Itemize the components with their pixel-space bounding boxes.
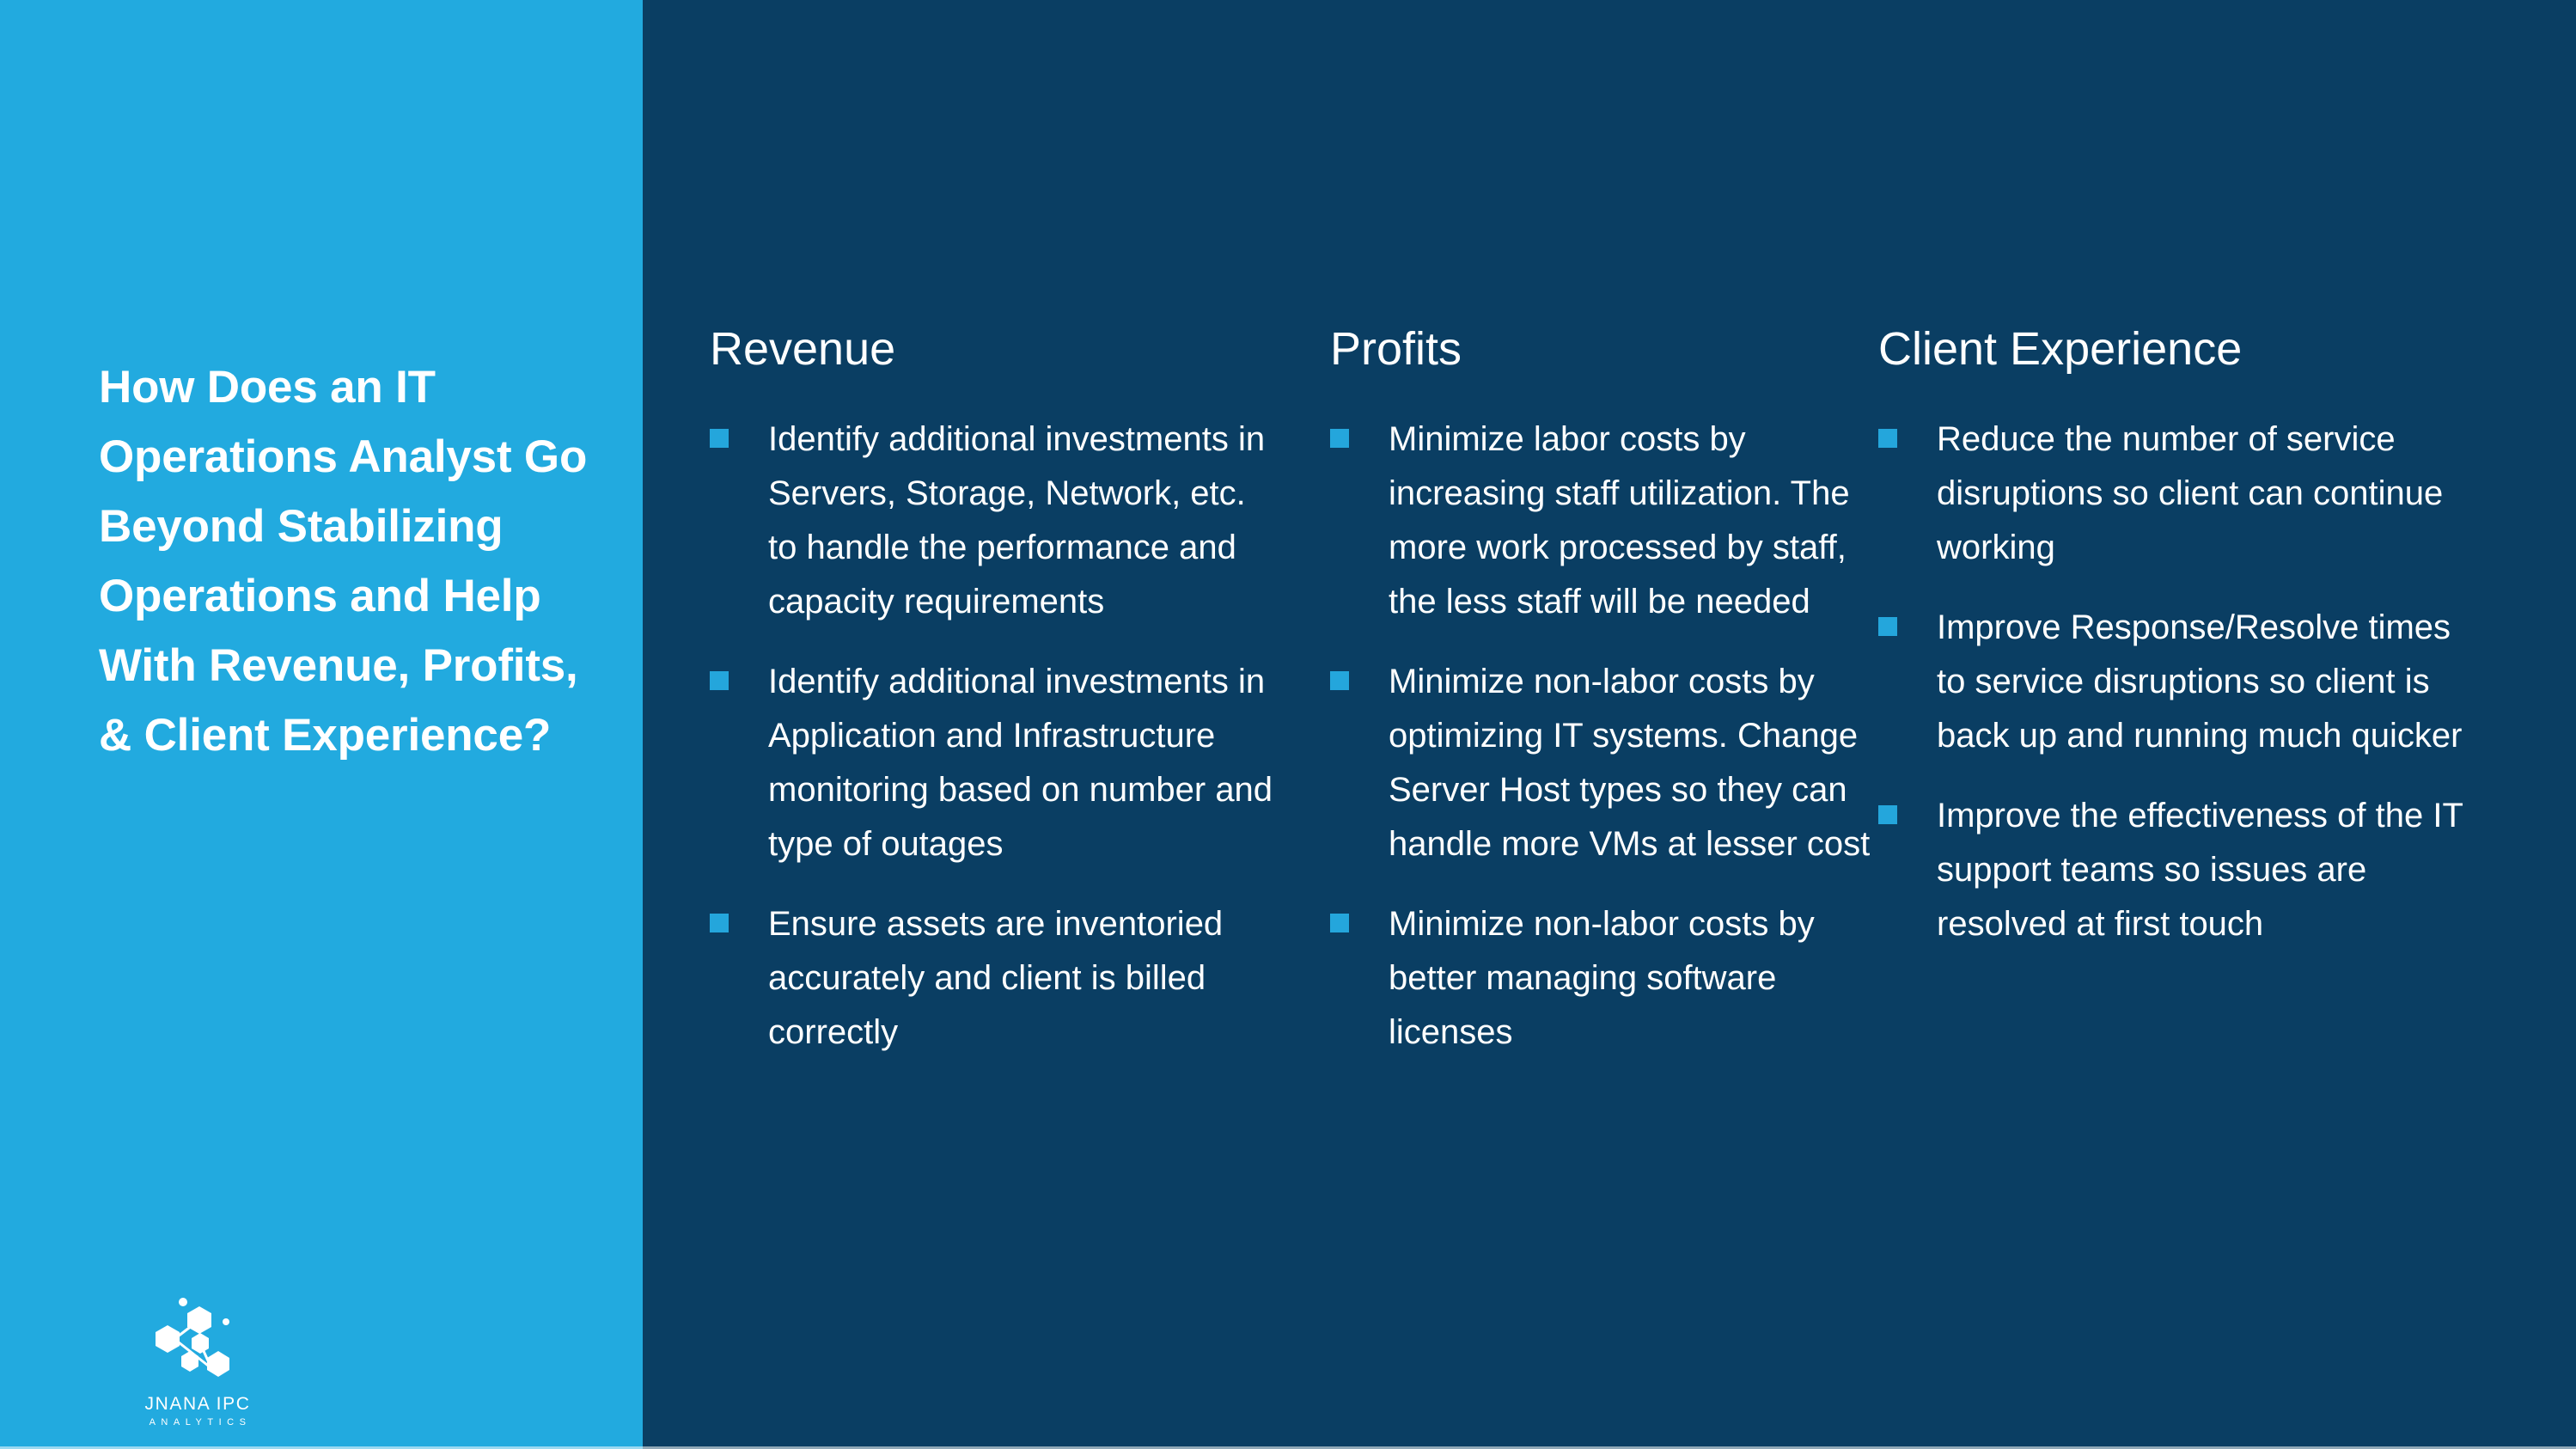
square-bullet-icon	[1330, 671, 1349, 690]
list-item: Identify additional investments in Serve…	[710, 413, 1277, 629]
list-item: Minimize labor costs by increasing staff…	[1330, 413, 1880, 629]
list-item-text: Identify additional investments in Serve…	[768, 413, 1277, 629]
list-item: Reduce the number of service disruptions…	[1878, 413, 2480, 575]
square-bullet-icon	[710, 914, 729, 932]
list-item: Improve Response/Resolve times to servic…	[1878, 601, 2480, 763]
list-item-text: Improve Response/Resolve times to servic…	[1937, 601, 2480, 763]
list-item-text: Ensure assets are inventoried accurately…	[768, 897, 1277, 1060]
list-item-text: Minimize non-labor costs by optimizing I…	[1389, 655, 1880, 871]
square-bullet-icon	[710, 429, 729, 448]
square-bullet-icon	[1330, 914, 1349, 932]
hexagon-network-icon	[146, 1294, 249, 1389]
title-panel: How Does an IT Operations Analyst Go Bey…	[0, 0, 643, 1449]
slide: How Does an IT Operations Analyst Go Bey…	[0, 0, 2576, 1449]
square-bullet-icon	[1878, 805, 1897, 824]
column-revenue: Revenue Identify additional investments …	[710, 323, 1277, 1085]
square-bullet-icon	[1878, 617, 1897, 636]
bullet-list: Identify additional investments in Serve…	[710, 413, 1277, 1060]
column-client-experience: Client Experience Reduce the number of s…	[1878, 323, 2480, 977]
list-item: Identify additional investments in Appli…	[710, 655, 1277, 871]
column-profits: Profits Minimize labor costs by increasi…	[1330, 323, 1880, 1085]
column-heading: Profits	[1330, 323, 1880, 375]
square-bullet-icon	[1330, 429, 1349, 448]
list-item-text: Improve the effectiveness of the IT supp…	[1937, 789, 2480, 951]
column-heading: Client Experience	[1878, 323, 2480, 375]
logo-tagline: ANALYTICS	[112, 1415, 284, 1430]
list-item-text: Minimize non-labor costs by better manag…	[1389, 897, 1880, 1060]
list-item: Ensure assets are inventoried accurately…	[710, 897, 1277, 1060]
square-bullet-icon	[1878, 429, 1897, 448]
bullet-list: Minimize labor costs by increasing staff…	[1330, 413, 1880, 1060]
page-title: How Does an IT Operations Analyst Go Bey…	[99, 352, 614, 770]
logo-wordmark: JNANA IPC	[112, 1394, 284, 1415]
square-bullet-icon	[710, 671, 729, 690]
list-item-text: Reduce the number of service disruptions…	[1937, 413, 2480, 575]
list-item-text: Identify additional investments in Appli…	[768, 655, 1277, 871]
list-item: Minimize non-labor costs by optimizing I…	[1330, 655, 1880, 871]
list-item: Improve the effectiveness of the IT supp…	[1878, 789, 2480, 951]
brand-logo: JNANA IPC ANALYTICS	[112, 1294, 284, 1430]
list-item-text: Minimize labor costs by increasing staff…	[1389, 413, 1880, 629]
list-item: Minimize non-labor costs by better manag…	[1330, 897, 1880, 1060]
column-heading: Revenue	[710, 323, 1277, 375]
content-columns: Revenue Identify additional investments …	[643, 0, 2576, 1449]
bullet-list: Reduce the number of service disruptions…	[1878, 413, 2480, 951]
